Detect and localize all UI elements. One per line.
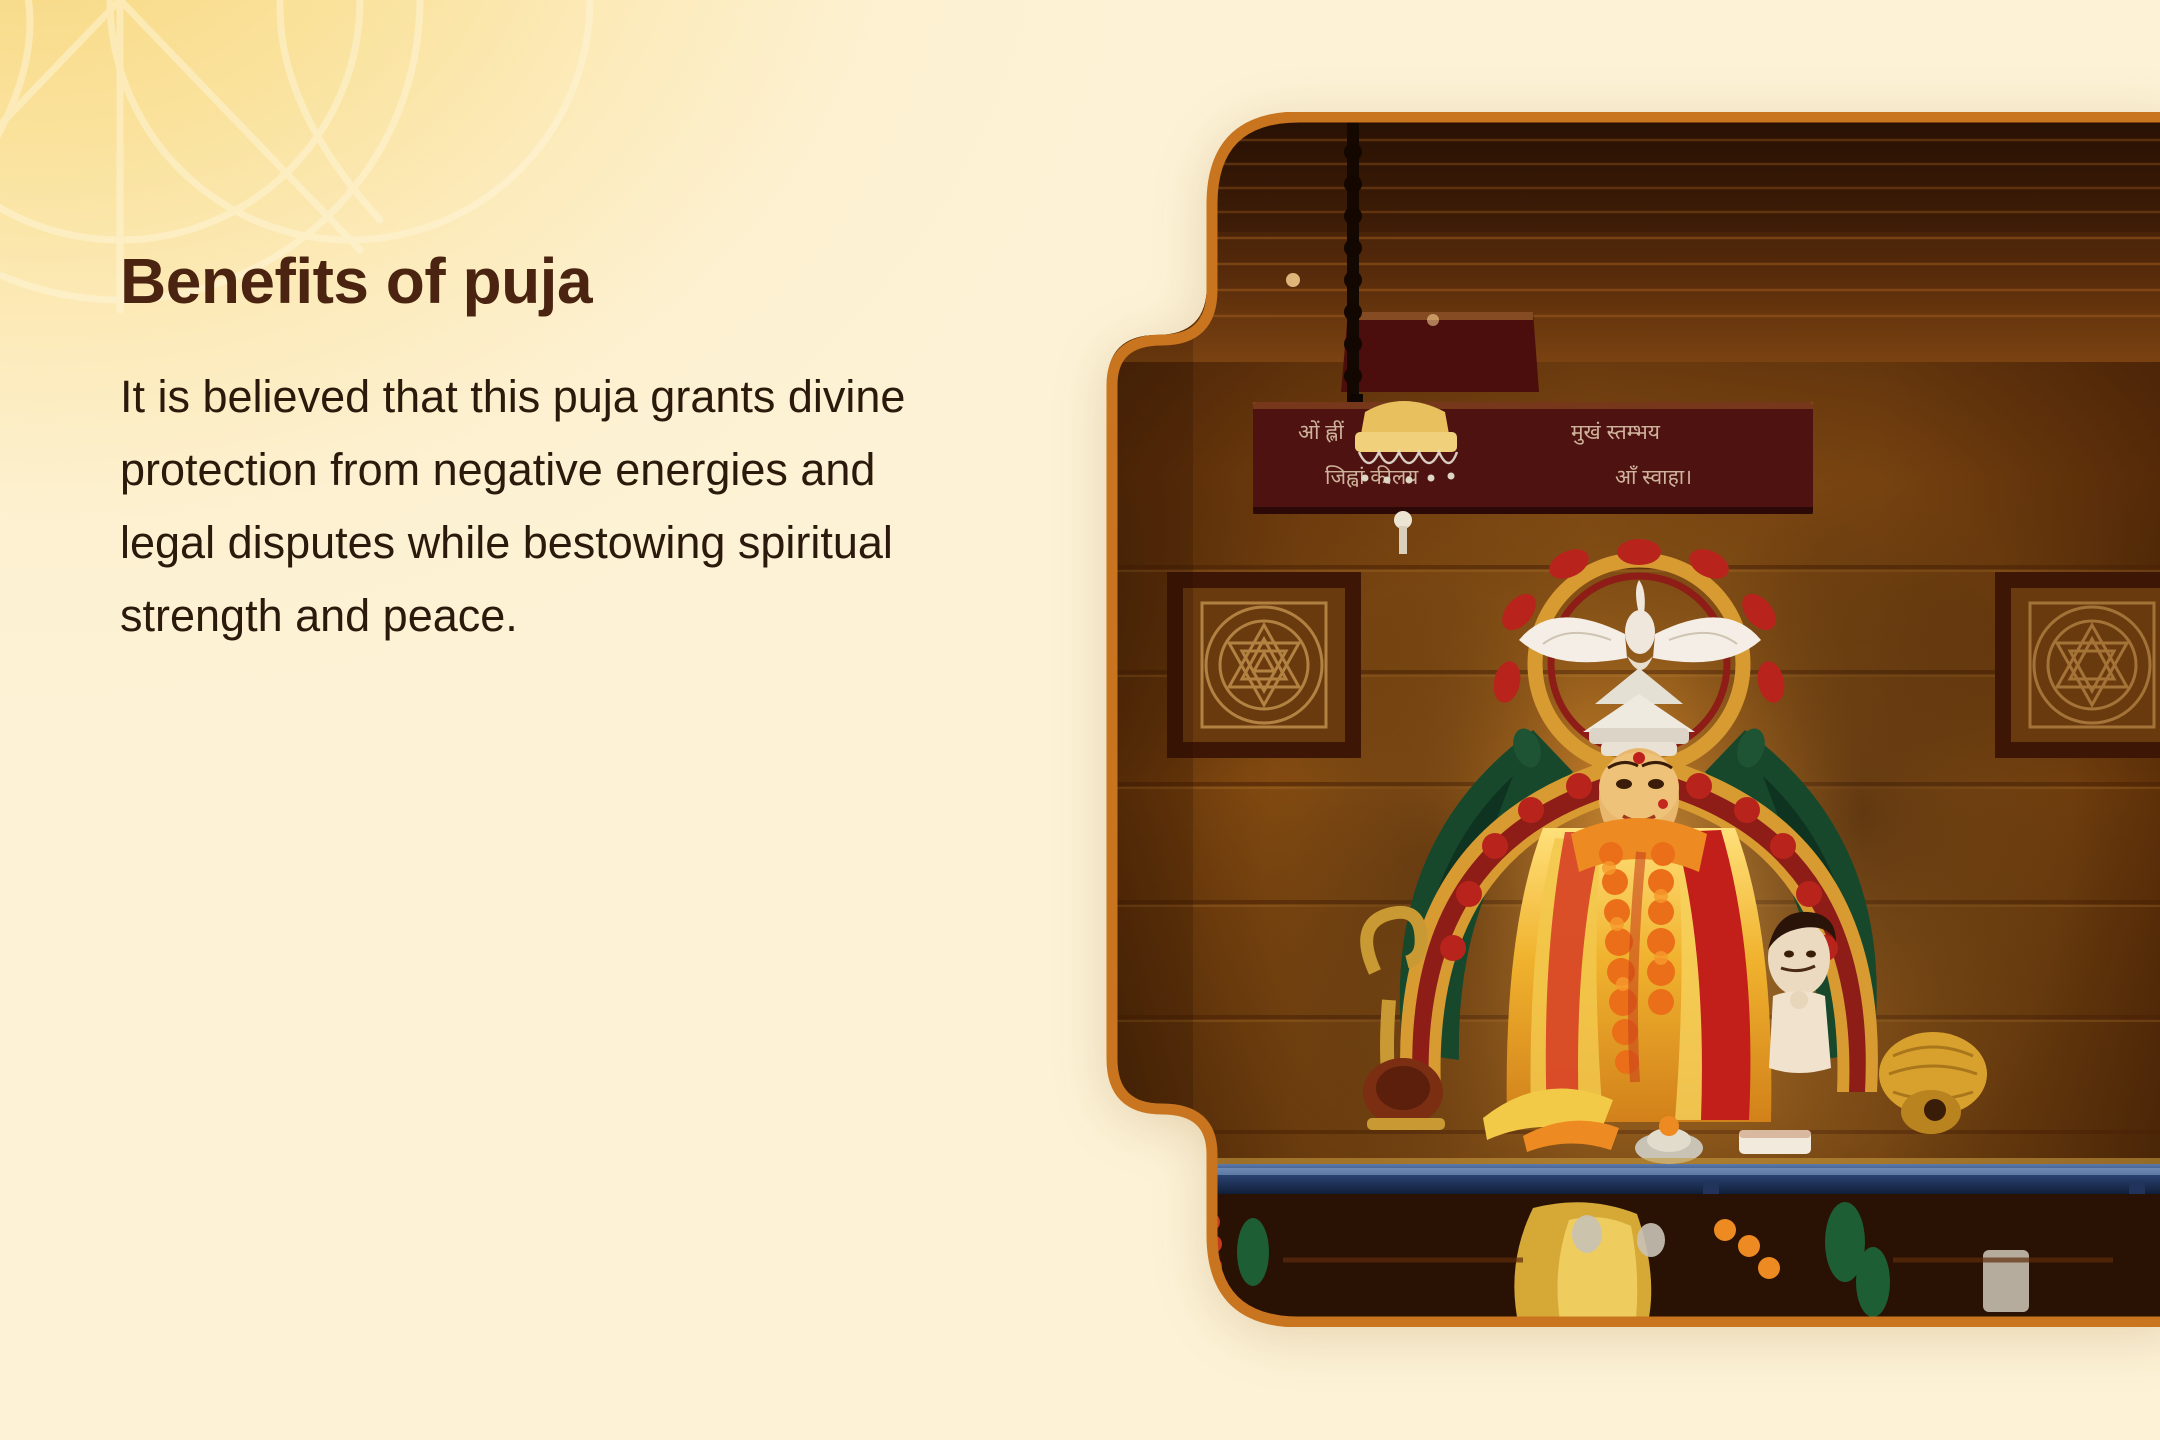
svg-text:ऑं स्वाहा।: ऑं स्वाहा। (1615, 465, 1692, 489)
benefits-paragraph: It is believed that this puja grants div… (120, 361, 970, 653)
svg-text:मुखं स्तम्भय: मुखं स्तम्भय (1571, 421, 1661, 445)
temple-deity-image-card: ओं ह्लीं मुखं स्तम्भय जिह्वां कीलय ऑं स्… (1103, 112, 2160, 1327)
page-title: Benefits of puja (120, 248, 980, 315)
benefits-text-column: Benefits of puja It is believed that thi… (120, 248, 980, 653)
svg-text:जिह्वां कीलय: जिह्वां कीलय (1325, 465, 1419, 489)
svg-text:ओं ह्लीं: ओं ह्लीं (1298, 420, 1344, 444)
lower-shelf (1103, 1194, 2160, 1327)
sri-yantra-panel-right (2003, 580, 2160, 750)
sanskrit-plaque: ओं ह्लीं मुखं स्तम्भय जिह्वां कीलय ऑं स्… (1253, 402, 1813, 514)
sri-yantra-panel-left (1175, 580, 1353, 750)
